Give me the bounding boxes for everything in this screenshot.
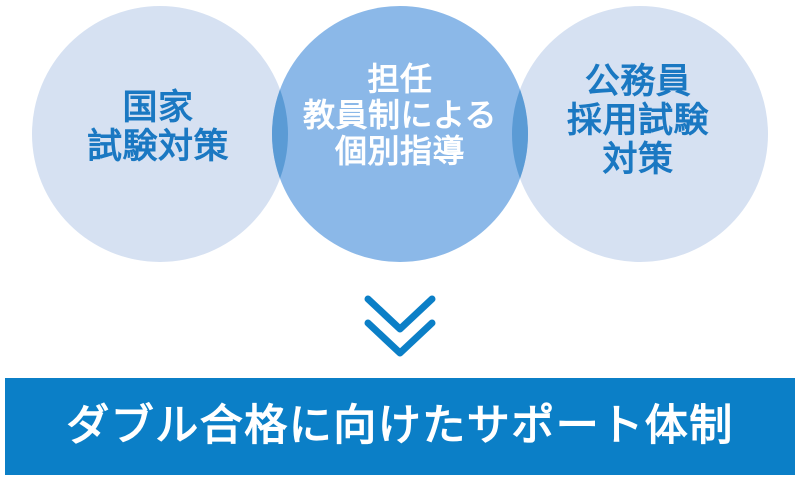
venn-diagram: 国家 試験対策 担任 教員制による 個別指導 公務員 採用試験 対策: [0, 0, 800, 270]
venn-circles-graphic: [0, 0, 800, 270]
summary-banner-text: ダブル合格に向けたサポート体制: [66, 405, 734, 448]
circle-right: [512, 6, 768, 262]
double-chevron-down-icon: [360, 291, 440, 361]
infographic-root: 国家 試験対策 担任 教員制による 個別指導 公務員 採用試験 対策 ダブル合格…: [0, 0, 800, 480]
circle-center: [272, 6, 528, 262]
summary-banner: ダブル合格に向けたサポート体制: [5, 378, 795, 475]
circle-left: [32, 6, 288, 262]
flow-arrow: [360, 291, 440, 361]
